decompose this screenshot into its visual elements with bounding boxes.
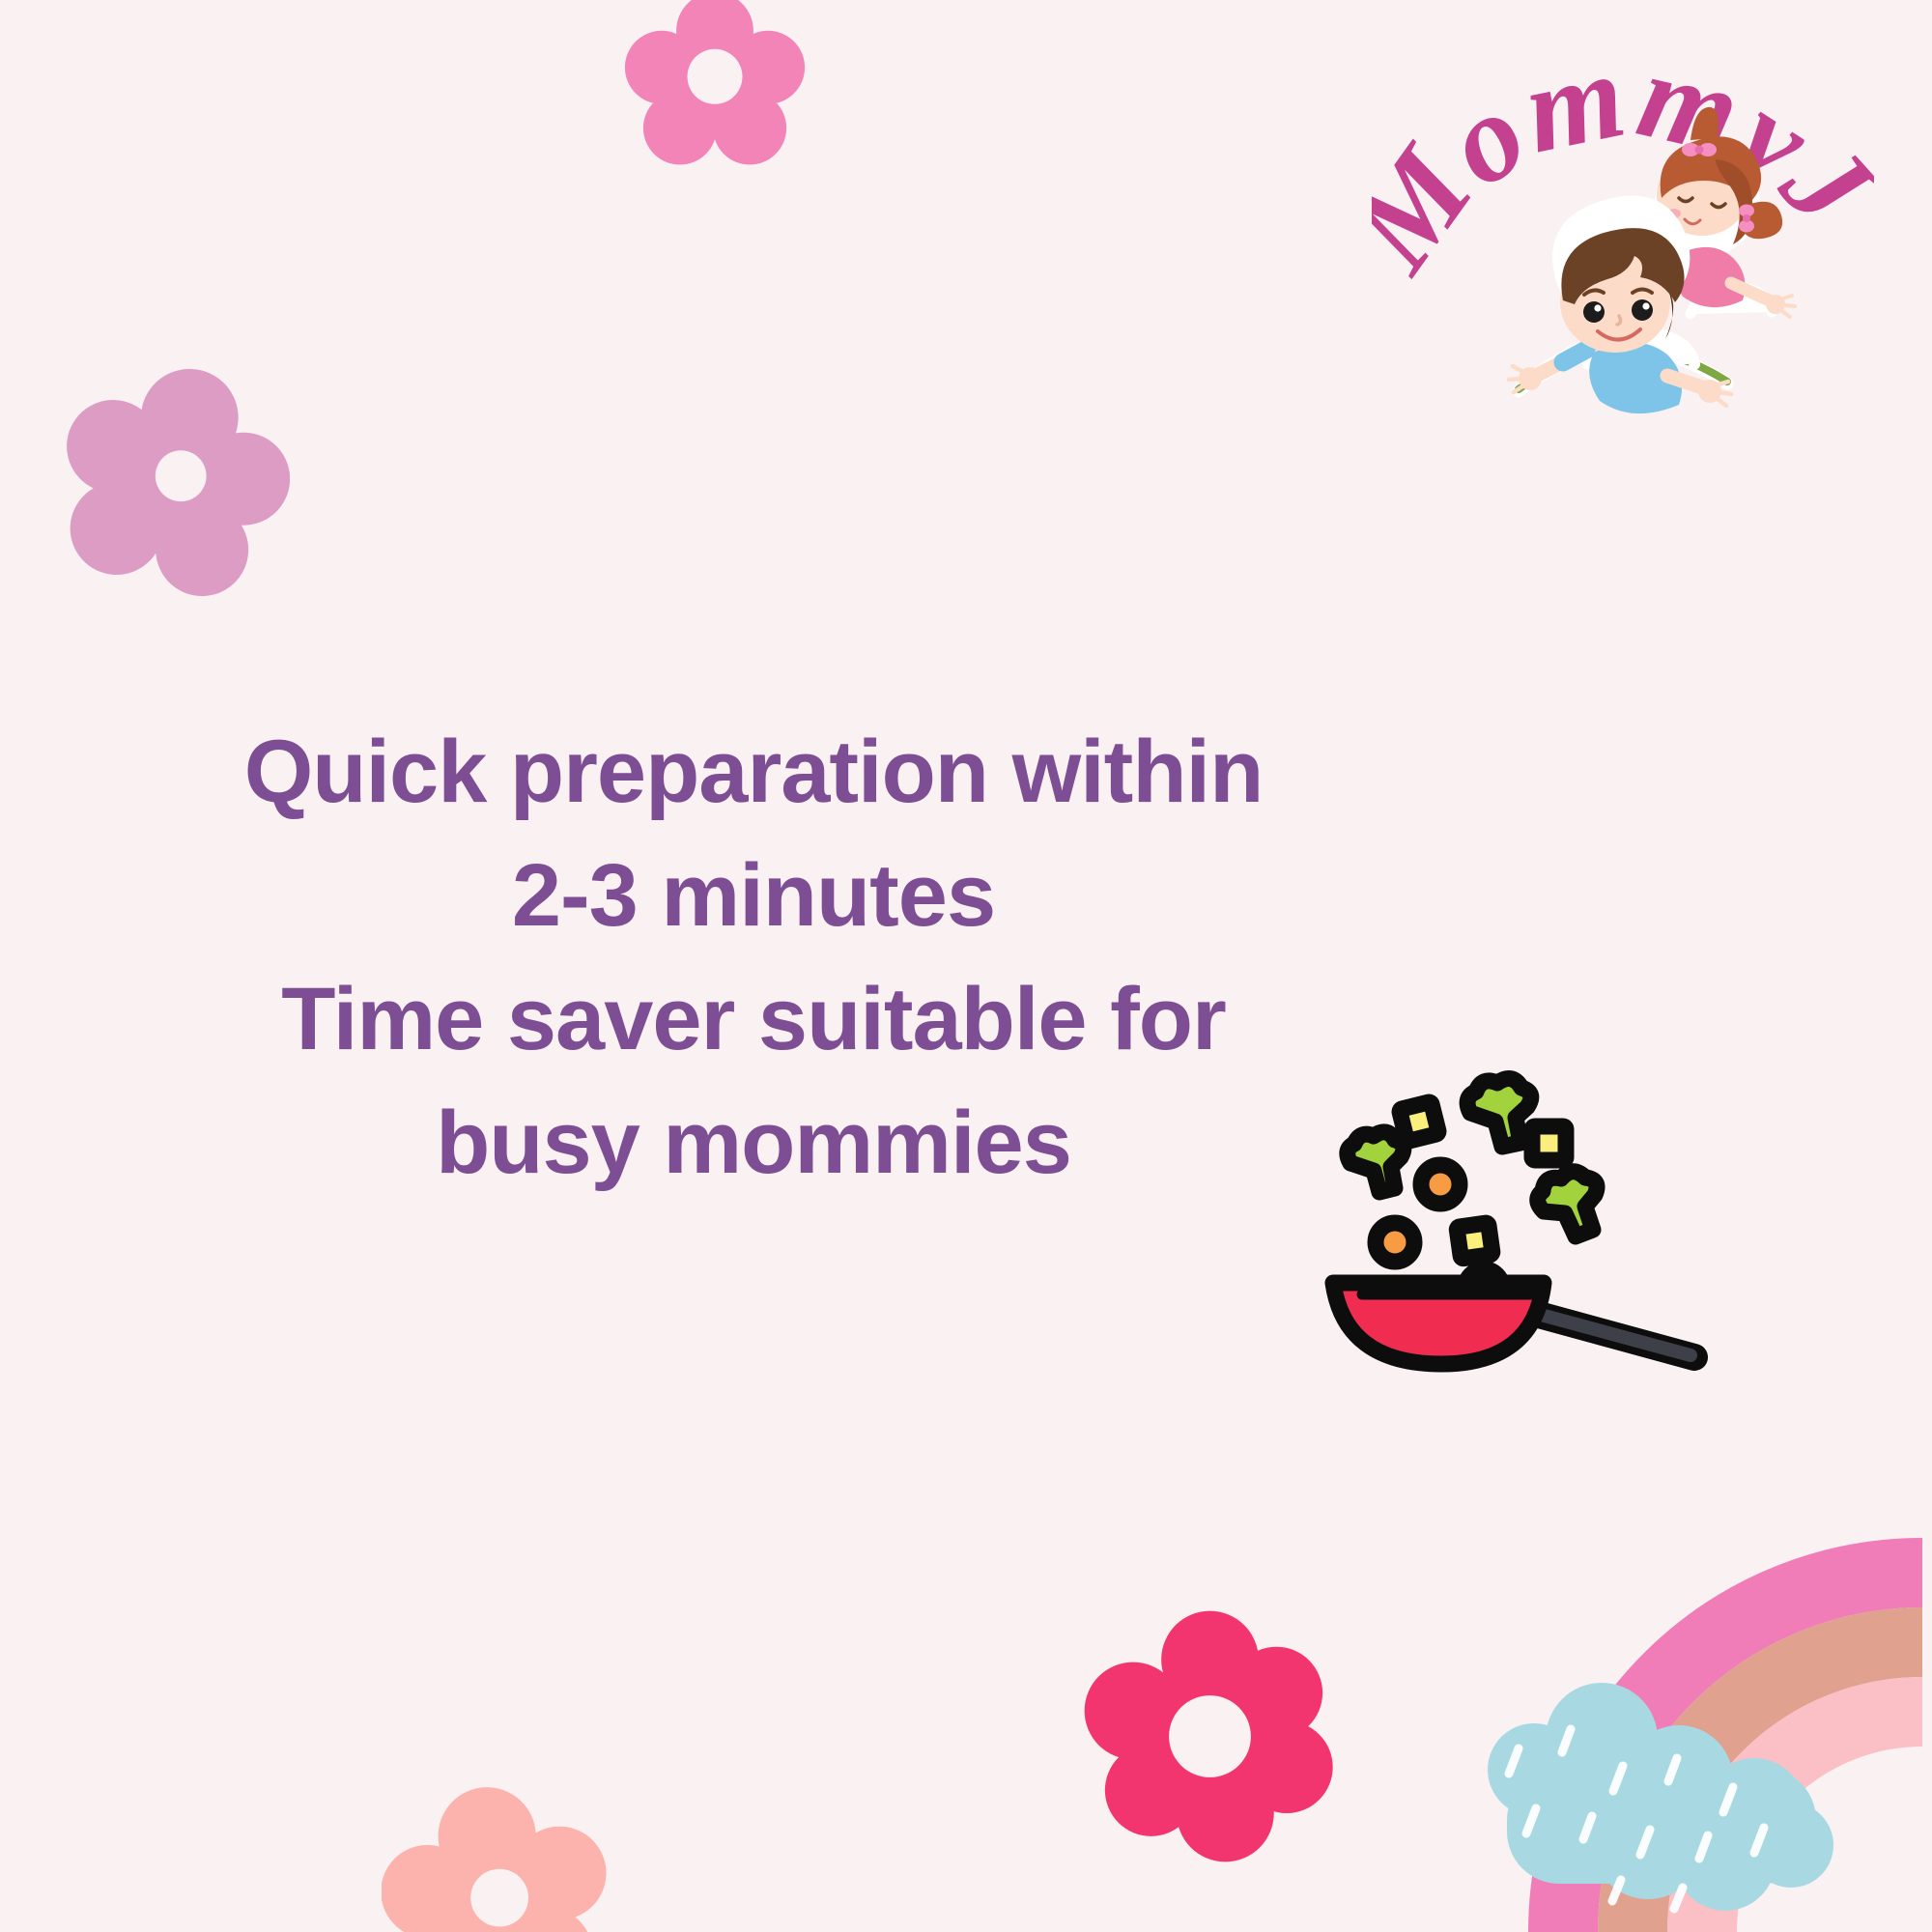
corn-square-piece: [1399, 1101, 1438, 1141]
flower-icon-left: [58, 362, 290, 599]
headline-line-3: Time saver suitable for: [0, 957, 1507, 1081]
corn-square-piece: [1532, 1126, 1566, 1160]
flower-icon-bottom-right: [1082, 1599, 1338, 1874]
broccoli-piece: [1467, 1079, 1531, 1147]
broccoli-piece: [1538, 1172, 1597, 1236]
headline-line-2: 2-3 minutes: [0, 834, 1507, 957]
page-title: Quick preparation within 2-3 minutes Tim…: [0, 710, 1507, 1205]
broccoli-piece: [1348, 1132, 1404, 1192]
flower-icon-top: [618, 0, 811, 174]
rainbow-with-cloud-icon: [1478, 1333, 1932, 1932]
flower-icon-bottom-left: [382, 1782, 609, 1932]
carrot-round-piece: [1421, 1165, 1460, 1204]
promo-card-canvas: MommyJ: [0, 0, 1932, 1932]
headline-line-1: Quick preparation within: [0, 710, 1507, 834]
mommyj-logo[interactable]: MommyJ: [1372, 24, 1874, 420]
corn-square-piece: [1457, 1223, 1492, 1259]
headline-line-4: busy mommies: [0, 1081, 1507, 1205]
carrot-round-piece: [1376, 1223, 1414, 1262]
